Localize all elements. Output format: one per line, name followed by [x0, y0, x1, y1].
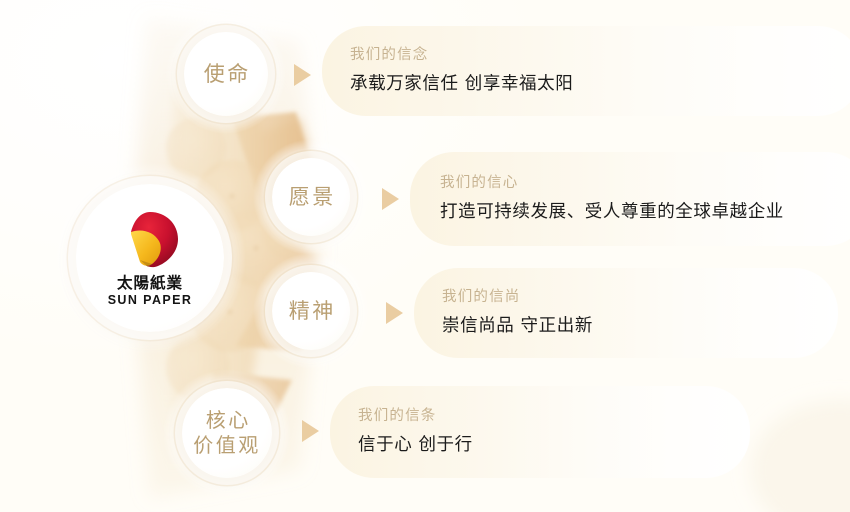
node-spirit[interactable]: 精神 [272, 272, 350, 350]
node-core-values[interactable]: 核心 价值观 [182, 388, 272, 478]
panel-vision-eyebrow: 我们的信心 [440, 176, 850, 191]
panel-mission: 我们的信念 承载万家信任 创享幸福太阳 [322, 26, 850, 116]
panel-core-values-headline: 信于心 创于行 [358, 435, 750, 455]
node-spirit-label: 精神 [286, 298, 336, 324]
panel-vision: 我们的信心 打造可持续发展、受人尊重的全球卓越企业 [410, 152, 850, 246]
node-mission-label: 使命 [201, 61, 251, 87]
triangle-right-icon [302, 420, 319, 442]
panel-core-values-eyebrow: 我们的信条 [358, 409, 750, 424]
panel-mission-eyebrow: 我们的信念 [350, 48, 850, 63]
brand-logo-badge: 太陽紙業 SUN PAPER [76, 184, 224, 332]
triangle-right-icon [294, 64, 311, 86]
brand-name-en: SUN PAPER [108, 294, 193, 307]
node-mission[interactable]: 使命 [184, 32, 268, 116]
panel-spirit: 我们的信尚 崇信尚品 守正出新 [414, 268, 838, 358]
node-core-values-line-1: 核心 [206, 408, 251, 432]
panel-mission-headline: 承载万家信任 创享幸福太阳 [350, 74, 850, 94]
sun-paper-logo-icon [118, 210, 182, 272]
brand-name-cn: 太陽紙業 [117, 276, 183, 292]
panel-spirit-headline: 崇信尚品 守正出新 [442, 316, 838, 336]
triangle-right-icon [382, 188, 399, 210]
panel-core-values: 我们的信条 信于心 创于行 [330, 386, 750, 478]
node-core-values-label: 核心 价值观 [193, 408, 261, 458]
triangle-right-icon [386, 302, 403, 324]
panel-spirit-eyebrow: 我们的信尚 [442, 290, 838, 305]
node-core-values-line-2: 价值观 [193, 433, 261, 457]
node-vision-label: 愿景 [286, 184, 336, 210]
background-right-wash [750, 400, 850, 512]
panel-vision-headline: 打造可持续发展、受人尊重的全球卓越企业 [440, 202, 850, 222]
culture-diagram-canvas: 太陽紙業 SUN PAPER 使命 我们的信念 承载万家信任 创享幸福太阳 愿景… [0, 0, 850, 512]
node-vision[interactable]: 愿景 [272, 158, 350, 236]
